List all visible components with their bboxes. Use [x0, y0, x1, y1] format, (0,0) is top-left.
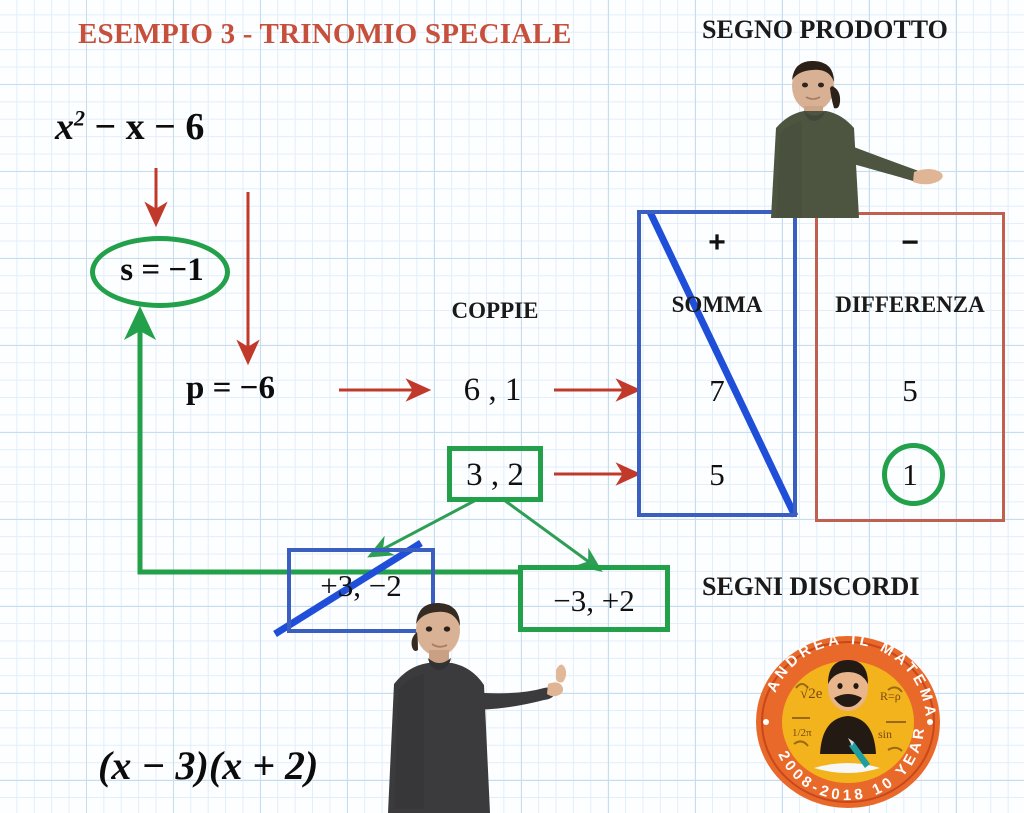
somma-header: SOMMA — [637, 292, 797, 318]
channel-logo: √2e R=ρ sin 1/2π ANDREA IL MATEMATICO 20… — [748, 626, 948, 811]
segni-discordi-heading: SEGNI DISCORDI — [702, 572, 919, 602]
trinomial-expression: x2 − x − 6 — [55, 105, 204, 149]
pair-row-1: 3 , 2 — [430, 457, 560, 494]
segno-prodotto-heading: SEGNO PRODOTTO — [702, 15, 948, 45]
differenza-header: DIFFERENZA — [815, 292, 1005, 318]
svg-text:R=ρ: R=ρ — [880, 689, 901, 703]
differenza-row-1: 1 — [815, 457, 1005, 493]
svg-text:1/2π: 1/2π — [792, 727, 812, 739]
coppie-header: COPPIE — [440, 298, 550, 324]
pair-row-0: 6 , 1 — [430, 372, 555, 409]
svg-text:√2e: √2e — [800, 686, 823, 702]
somma-sign: + — [637, 226, 797, 260]
somma-row-1: 5 — [637, 457, 797, 493]
branch-arrow-right — [504, 500, 600, 570]
svg-text:sin: sin — [878, 727, 892, 741]
trinomial-base: x — [55, 106, 74, 148]
page-title: ESEMPIO 3 - TRINOMIO SPECIALE — [78, 18, 572, 51]
trinomial-rest: − x − 6 — [95, 106, 205, 148]
sum-value: s = −1 — [103, 252, 221, 289]
differenza-row-0: 5 — [815, 373, 1005, 409]
whiteboard-canvas: ESEMPIO 3 - TRINOMIO SPECIALE SEGNO PROD… — [0, 0, 1024, 813]
differenza-sign: − — [815, 226, 1005, 260]
product-value: p = −6 — [186, 370, 275, 407]
presenter-photo-top — [728, 58, 948, 218]
factored-result-text: (x − 3)(x + 2) — [98, 743, 318, 788]
somma-row-0: 7 — [637, 373, 797, 409]
factored-result: (x − 3)(x + 2) — [98, 742, 318, 789]
presenter-photo-bottom — [372, 588, 602, 813]
trinomial-exponent: 2 — [74, 105, 85, 130]
feedback-path-to-sum — [140, 312, 520, 572]
